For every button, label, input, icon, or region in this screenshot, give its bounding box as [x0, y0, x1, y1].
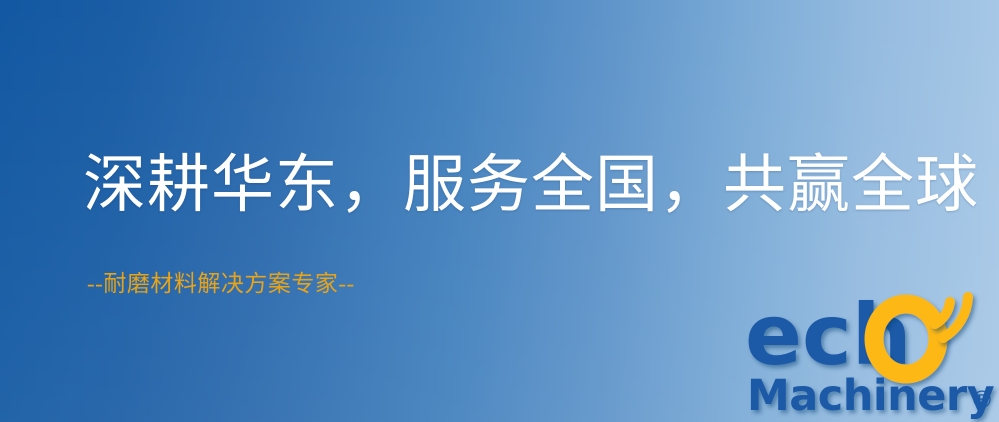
- logo-wordmark-machinery: Machinery: [747, 371, 995, 421]
- logo-registered-mark: ®: [970, 386, 994, 414]
- banner-headline: 深耕华东，服务全国，共赢全球: [83, 152, 979, 219]
- echo-machinery-logo[interactable]: ech Machinery ®: [745, 292, 999, 422]
- banner-subtitle: --耐磨材料解决方案专家--: [87, 270, 355, 298]
- hero-banner: 深耕华东，服务全国，共赢全球 --耐磨材料解决方案专家-- ech Machin…: [0, 0, 999, 422]
